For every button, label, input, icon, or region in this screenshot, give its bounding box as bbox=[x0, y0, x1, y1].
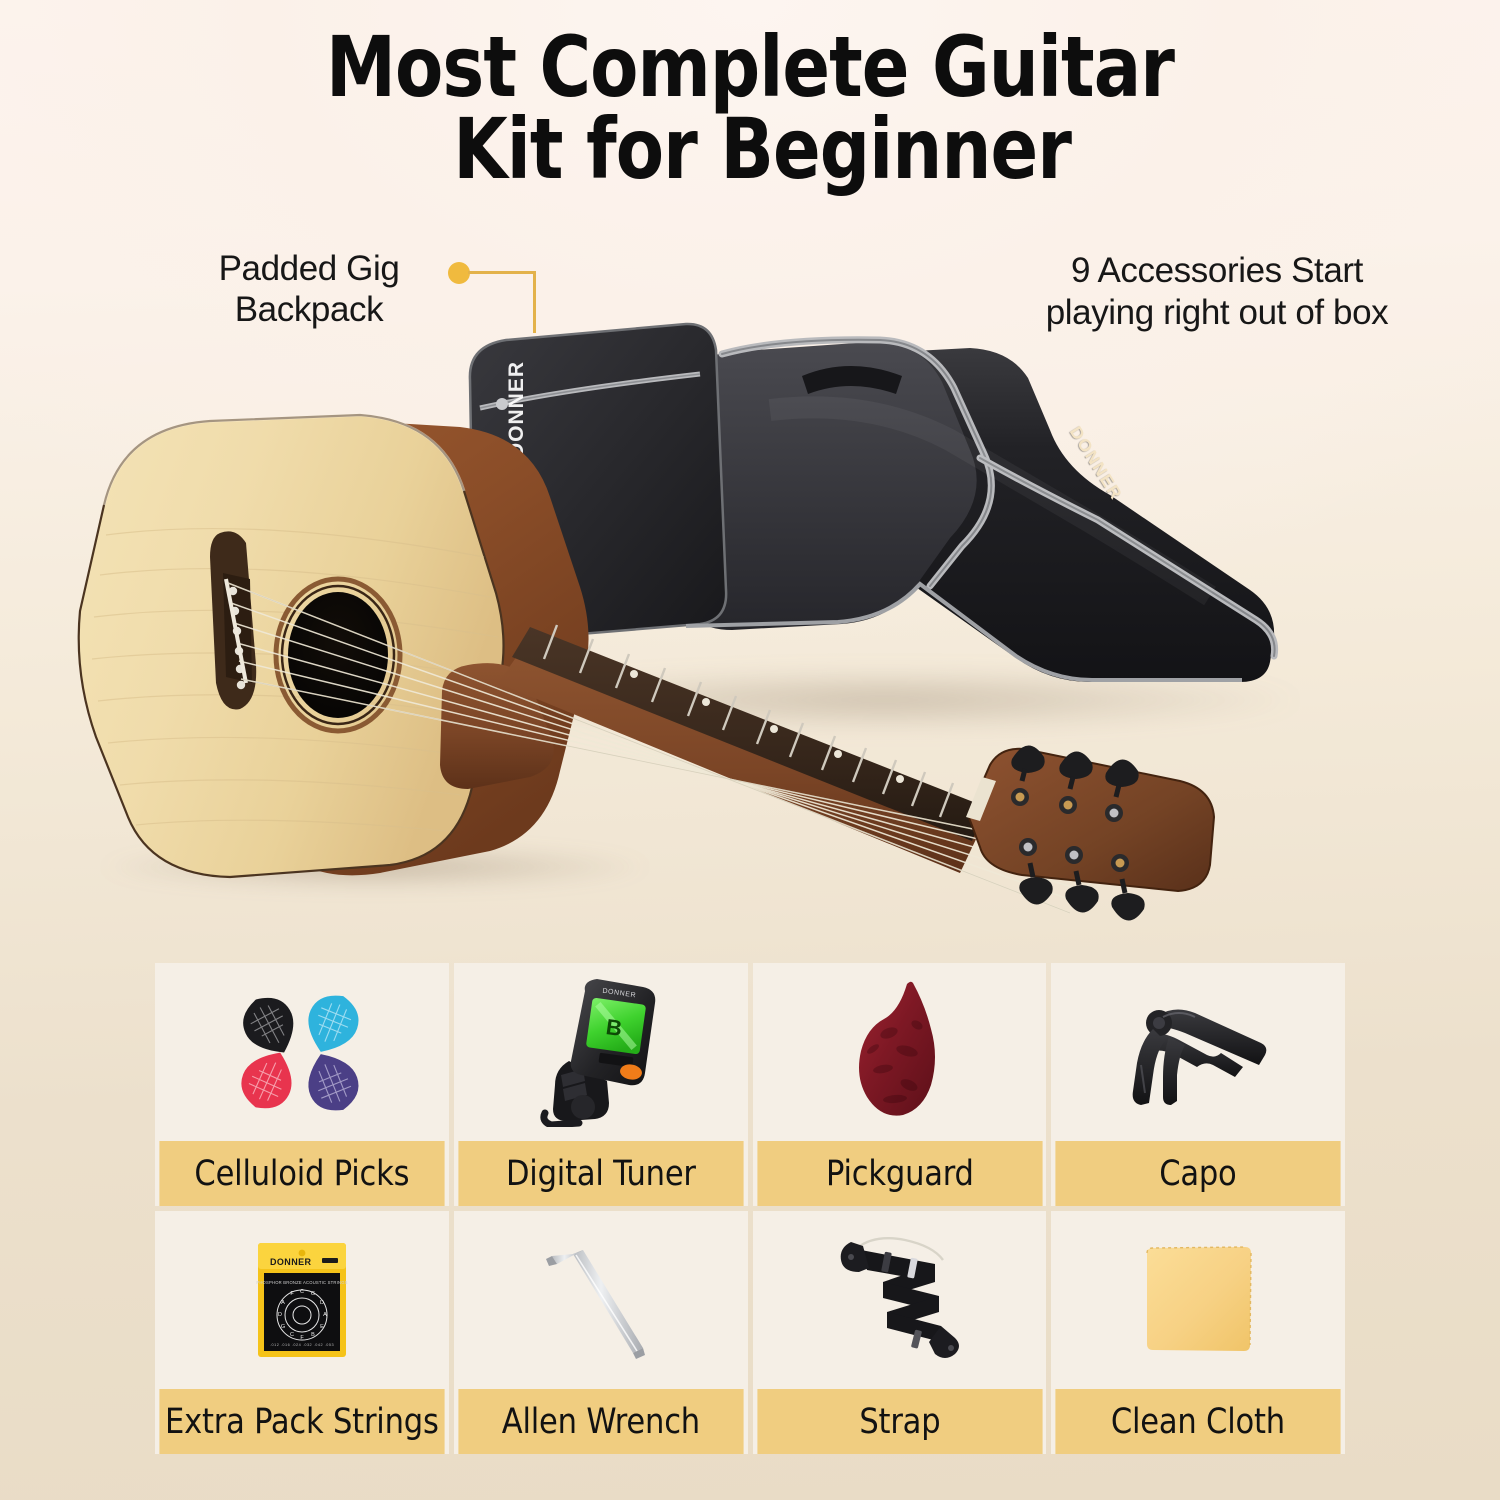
accessory-cell-allen-wrench[interactable]: Allen Wrench bbox=[454, 1211, 748, 1454]
svg-text:.012 .016 .024 .032 .042 .053: .012 .016 .024 .032 .042 .053 bbox=[270, 1343, 334, 1347]
svg-text:D: D bbox=[320, 1300, 324, 1306]
accessory-label-extra-pack-strings: Extra Pack Strings bbox=[159, 1389, 444, 1454]
guitar-image: DONNER bbox=[60, 365, 1220, 985]
accessory-cell-capo[interactable]: Capo bbox=[1051, 963, 1345, 1206]
accessory-label-celluloid-picks: Celluloid Picks bbox=[159, 1141, 444, 1206]
svg-text:E: E bbox=[320, 1324, 324, 1330]
allen-wrench-icon bbox=[454, 1211, 748, 1389]
accessory-cell-extra-pack-strings[interactable]: DONNER PHOSPHOR BRONZE ACOUSTIC STRINGS … bbox=[155, 1211, 449, 1454]
guitar-picks-icon bbox=[155, 963, 449, 1141]
accessories-row-1: Celluloid Picks bbox=[155, 963, 1345, 1206]
accessory-label-allen-wrench: Allen Wrench bbox=[458, 1389, 743, 1454]
strings-pack-icon: DONNER PHOSPHOR BRONZE ACOUSTIC STRINGS … bbox=[155, 1211, 449, 1389]
svg-text:A: A bbox=[281, 1300, 285, 1306]
svg-text:C: C bbox=[300, 1289, 304, 1295]
svg-text:A: A bbox=[323, 1312, 327, 1318]
accessory-label-pickguard: Pickguard bbox=[757, 1141, 1042, 1206]
accessories-grid: Celluloid Picks bbox=[155, 963, 1345, 1454]
headline-line-2: Kit for Beginner bbox=[53, 108, 1448, 190]
page-title: Most Complete Guitar Kit for Beginner bbox=[53, 26, 1448, 191]
svg-text:G: G bbox=[311, 1291, 315, 1297]
accessories-row-2: DONNER PHOSPHOR BRONZE ACOUSTIC STRINGS … bbox=[155, 1211, 1345, 1454]
svg-text:C: C bbox=[290, 1332, 294, 1338]
accessory-label-capo: Capo bbox=[1056, 1141, 1341, 1206]
accessory-label-clean-cloth: Clean Cloth bbox=[1056, 1389, 1341, 1454]
accessory-cell-clean-cloth[interactable]: Clean Cloth bbox=[1051, 1211, 1345, 1454]
accessory-cell-pickguard[interactable]: Pickguard bbox=[753, 963, 1047, 1206]
svg-text:DONNER: DONNER bbox=[270, 1257, 312, 1267]
hero-product-scene: DONNER bbox=[0, 270, 1500, 980]
svg-text:G: G bbox=[281, 1324, 285, 1330]
capo-icon bbox=[1051, 963, 1345, 1141]
accessory-label-strap: Strap bbox=[757, 1389, 1042, 1454]
accessory-label-digital-tuner: Digital Tuner bbox=[458, 1141, 743, 1206]
pickguard-icon bbox=[753, 963, 1047, 1141]
svg-text:D: D bbox=[278, 1312, 282, 1318]
accessory-cell-digital-tuner[interactable]: B DONNER Digital Tuner bbox=[454, 963, 748, 1206]
accessory-cell-strap[interactable]: Strap bbox=[753, 1211, 1047, 1454]
guitar-strap-icon bbox=[753, 1211, 1047, 1389]
accessory-cell-celluloid-picks[interactable]: Celluloid Picks bbox=[155, 963, 449, 1206]
svg-text:PHOSPHOR BRONZE ACOUSTIC STRIN: PHOSPHOR BRONZE ACOUSTIC STRINGS bbox=[256, 1280, 347, 1285]
cleaning-cloth-icon bbox=[1051, 1211, 1345, 1389]
svg-text:B: B bbox=[311, 1332, 315, 1338]
clip-on-tuner-icon: B DONNER bbox=[454, 963, 748, 1141]
headline-line-1: Most Complete Guitar bbox=[53, 26, 1448, 108]
